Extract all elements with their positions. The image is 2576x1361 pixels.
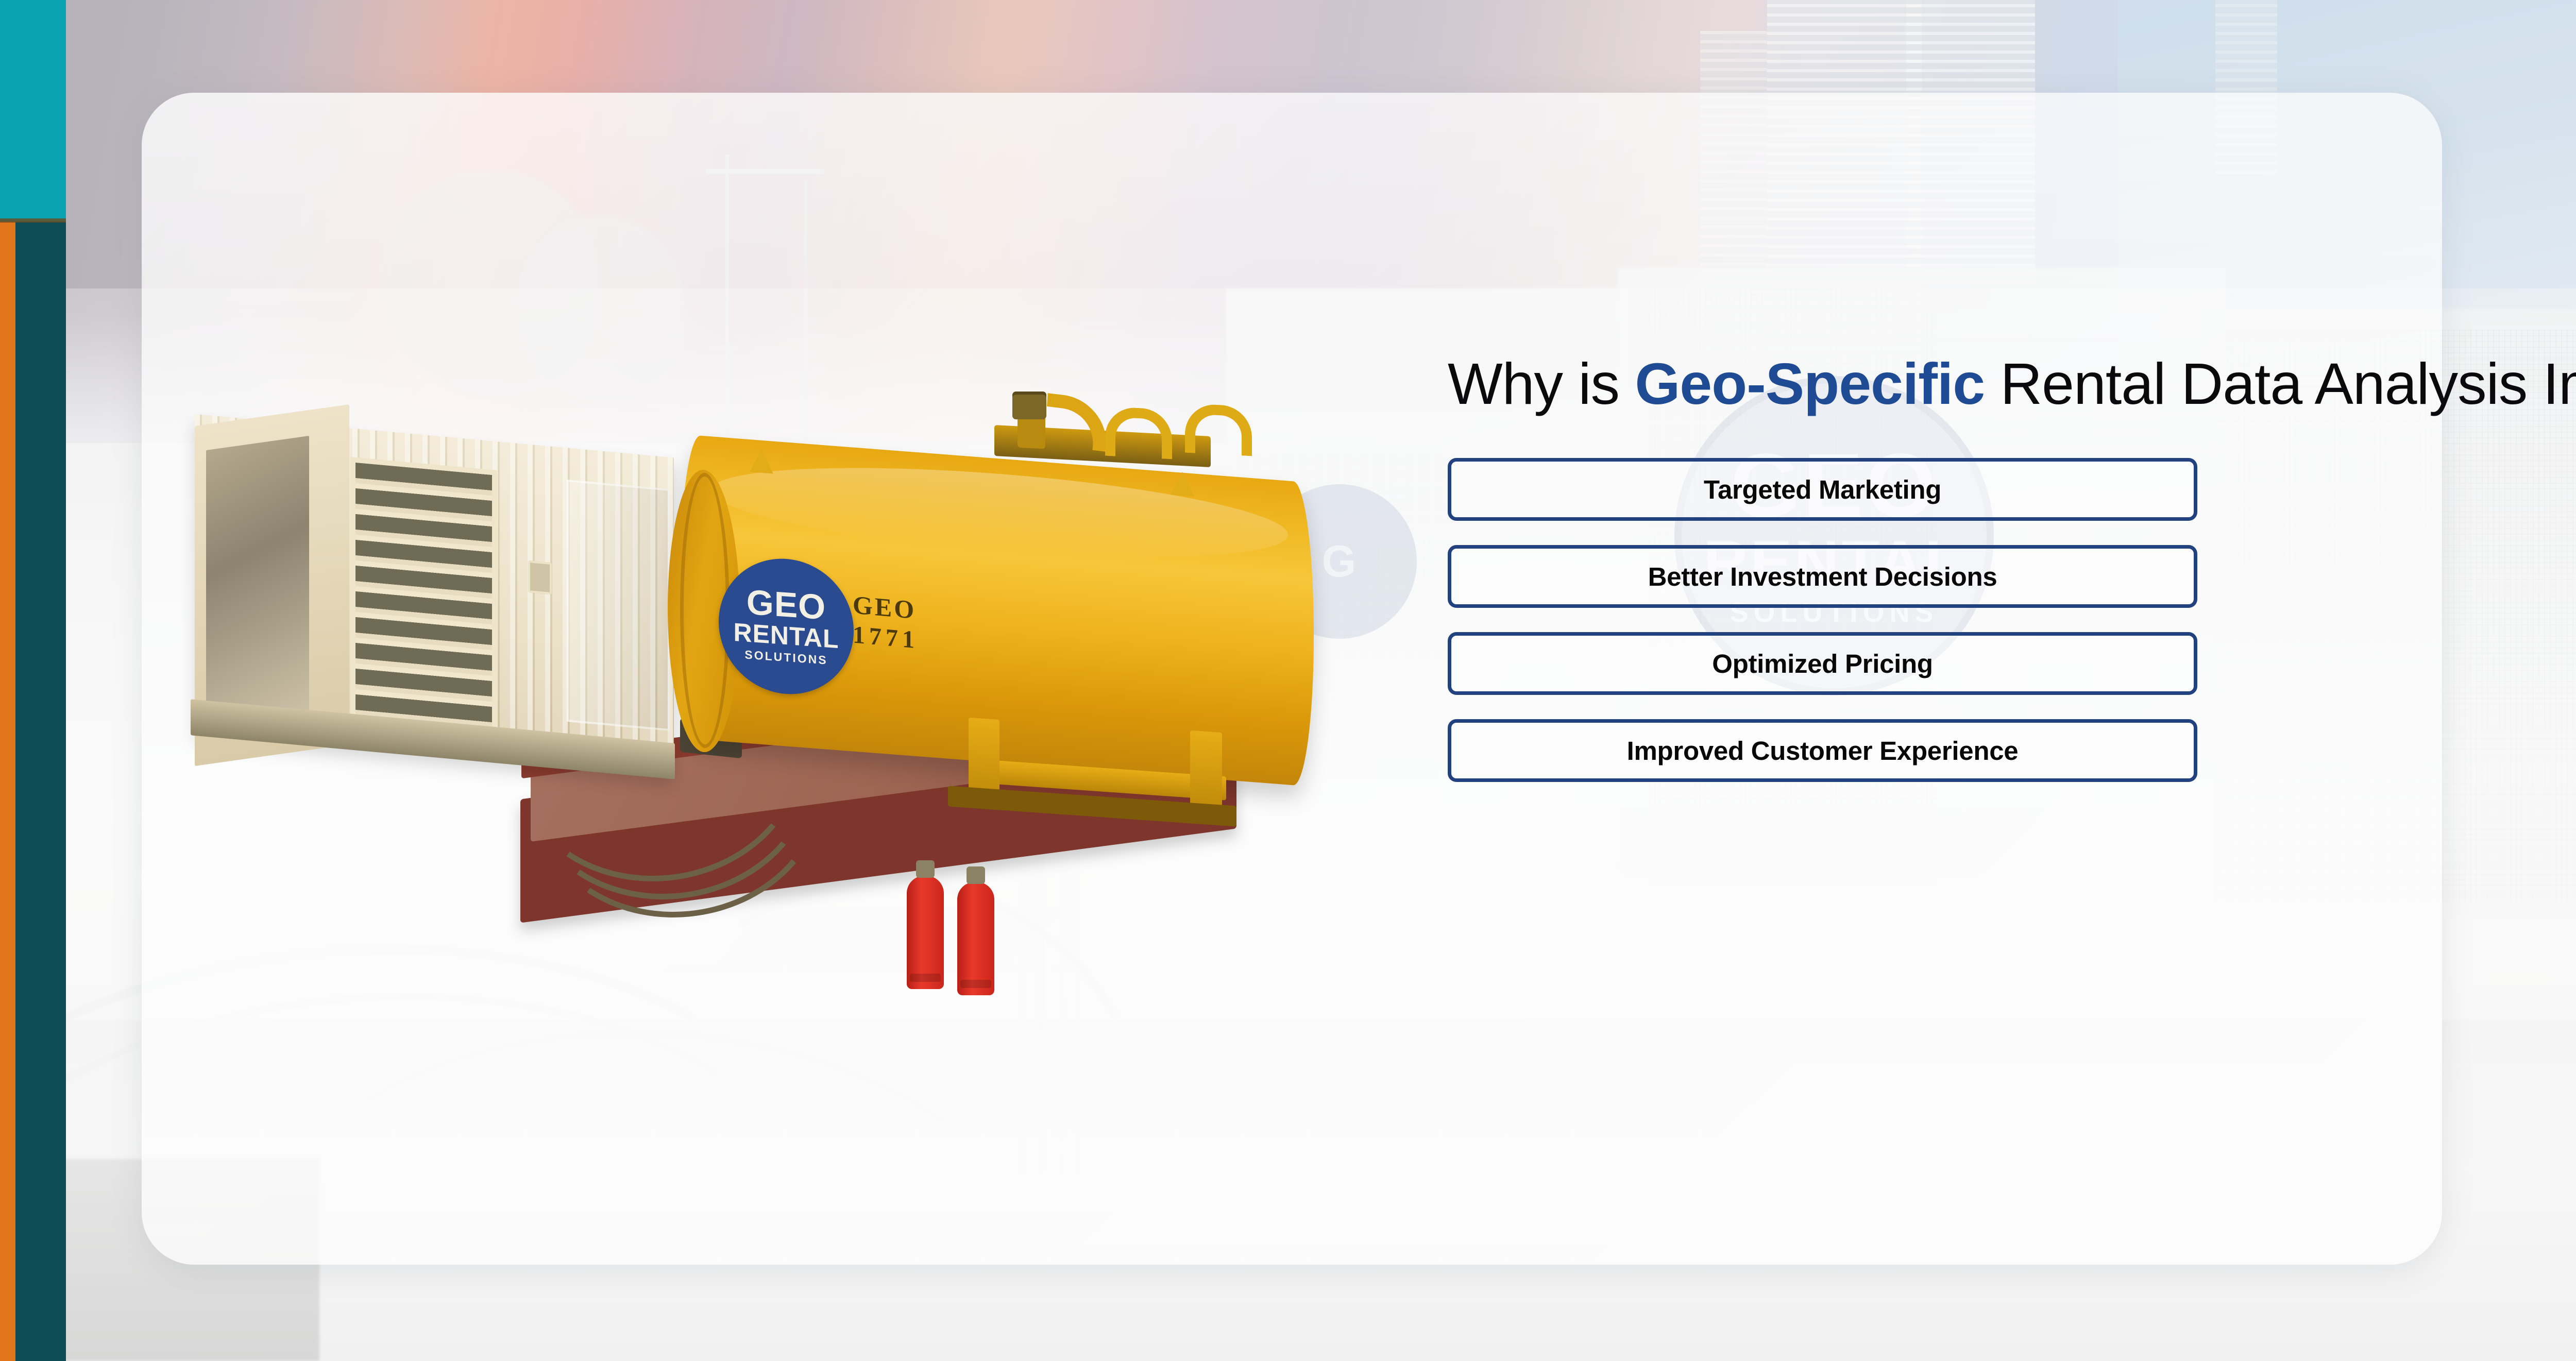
headline-accent: Geo-Specific xyxy=(1635,351,1985,416)
edge-accent-dark-teal xyxy=(15,222,66,1361)
edge-accent-seam xyxy=(0,218,66,223)
option-targeted-marketing[interactable]: Targeted Marketing xyxy=(1448,458,2197,521)
equipment-illustration: GEO RENTAL SOLUTIONS GEO 1771 xyxy=(0,0,1417,1172)
generator-container-open-bay xyxy=(206,436,309,728)
page-title: Why is Geo-Specific Rental Data Analysis… xyxy=(1448,350,2197,418)
decal-rental-text: RENTAL xyxy=(733,619,839,652)
tank-lifting-handle-1 xyxy=(1105,406,1172,460)
option-better-investment-decisions[interactable]: Better Investment Decisions xyxy=(1448,545,2197,608)
benefit-options-list: Targeted Marketing Better Investment Dec… xyxy=(1448,458,2197,782)
generator-door-latch xyxy=(528,560,552,594)
tank-id-prefix: GEO xyxy=(853,589,919,625)
tank-fill-cap xyxy=(1012,392,1046,419)
option-label: Optimized Pricing xyxy=(1712,649,1933,679)
headline-suffix: Rental Data Analysis Important? xyxy=(1985,351,2576,416)
option-label: Improved Customer Experience xyxy=(1627,736,2019,766)
tank-lifting-handle-2 xyxy=(1185,403,1252,456)
option-optimized-pricing[interactable]: Optimized Pricing xyxy=(1448,632,2197,695)
headline-prefix: Why is xyxy=(1448,351,1635,416)
tank-id-number: 1771 xyxy=(853,620,919,654)
generator-louver-grille xyxy=(350,457,497,759)
fire-extinguisher-2 xyxy=(957,882,994,995)
content-column: Why is Geo-Specific Rental Data Analysis… xyxy=(1448,350,2197,782)
option-label: Targeted Marketing xyxy=(1704,474,1941,505)
edge-accent-orange-front xyxy=(0,222,15,1361)
fire-extinguisher-1 xyxy=(907,876,944,989)
tank-id-stencil: GEO 1771 xyxy=(853,589,919,654)
decal-geo-text: GEO xyxy=(747,586,826,624)
option-label: Better Investment Decisions xyxy=(1648,562,1997,592)
option-improved-customer-experience[interactable]: Improved Customer Experience xyxy=(1448,719,2197,782)
edge-accent-teal-block xyxy=(0,0,66,222)
tank-gooseneck-vent xyxy=(1044,393,1110,452)
slide-canvas: GEO RENTAL SOLUTIONS G xyxy=(0,0,2576,1361)
